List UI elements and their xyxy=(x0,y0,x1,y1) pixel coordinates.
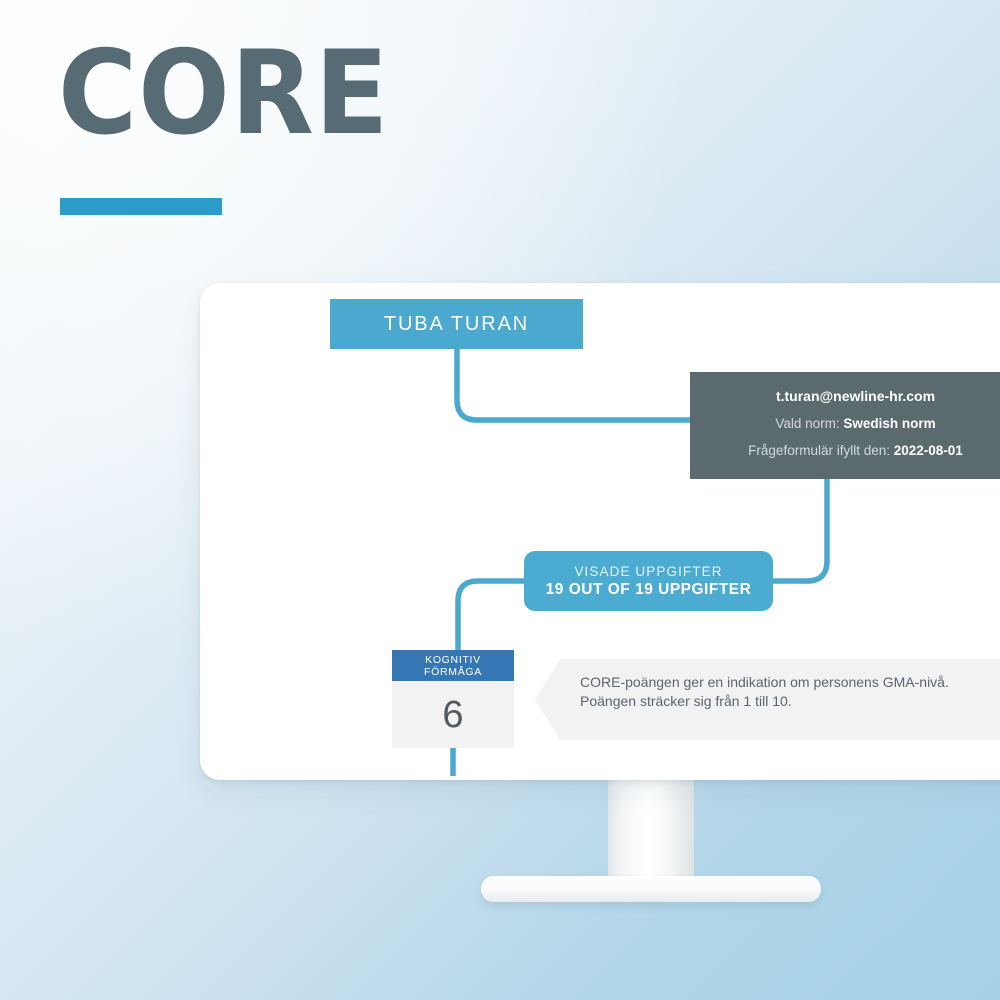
selected-norm-row: Vald norm: Swedish norm xyxy=(690,410,1000,437)
monitor-screen: TUBA TURAN t.turan@newline-hr.com Vald n… xyxy=(204,287,1000,776)
tooltip-text: CORE-poängen ger en indikation om person… xyxy=(580,673,1000,711)
cognitive-ability-header: KOGNITIV FÖRMÅGA xyxy=(392,650,514,681)
monitor-frame: TUBA TURAN t.turan@newline-hr.com Vald n… xyxy=(200,283,1000,780)
tasks-shown-value: 19 OUT OF 19 UPPGIFTER xyxy=(546,580,752,599)
cognitive-ability-score-card: KOGNITIV FÖRMÅGA 6 xyxy=(392,650,514,748)
completed-date-value: 2022-08-01 xyxy=(894,443,963,458)
tasks-shown-caption: VISADE UPPGIFTER xyxy=(574,563,722,580)
report-canvas: TUBA TURAN t.turan@newline-hr.com Vald n… xyxy=(204,287,1000,776)
candidate-name-label: TUBA TURAN xyxy=(384,313,529,336)
poster-canvas: CORE xyxy=(0,0,1000,1000)
selected-norm-label: Vald norm: xyxy=(775,416,839,431)
candidate-email: t.turan@newline-hr.com xyxy=(690,383,1000,410)
cognitive-ability-body: 6 xyxy=(392,681,514,748)
brand-accent-rule xyxy=(60,198,222,215)
cognitive-ability-header-line2: FÖRMÅGA xyxy=(424,666,482,678)
candidate-name-banner: TUBA TURAN xyxy=(330,299,583,349)
monitor-stand-neck xyxy=(608,772,694,890)
monitor-stand-base xyxy=(481,876,821,902)
tasks-shown-card: VISADE UPPGIFTER 19 OUT OF 19 UPPGIFTER xyxy=(524,551,773,611)
selected-norm-value: Swedish norm xyxy=(843,416,935,431)
page-title: CORE xyxy=(58,38,449,150)
completed-date-row: Frågeformulär ifyllt den: 2022-08-01 xyxy=(690,437,1000,464)
cognitive-ability-header-line1: KOGNITIV xyxy=(425,654,481,666)
completed-date-label: Frågeformulär ifyllt den: xyxy=(748,443,890,458)
cognitive-ability-score-value: 6 xyxy=(442,695,463,735)
candidate-info-panel: t.turan@newline-hr.com Vald norm: Swedis… xyxy=(690,372,1000,479)
score-explanation-tooltip: CORE-poängen ger en indikation om person… xyxy=(535,659,1000,740)
brand-block: CORE xyxy=(58,38,478,218)
